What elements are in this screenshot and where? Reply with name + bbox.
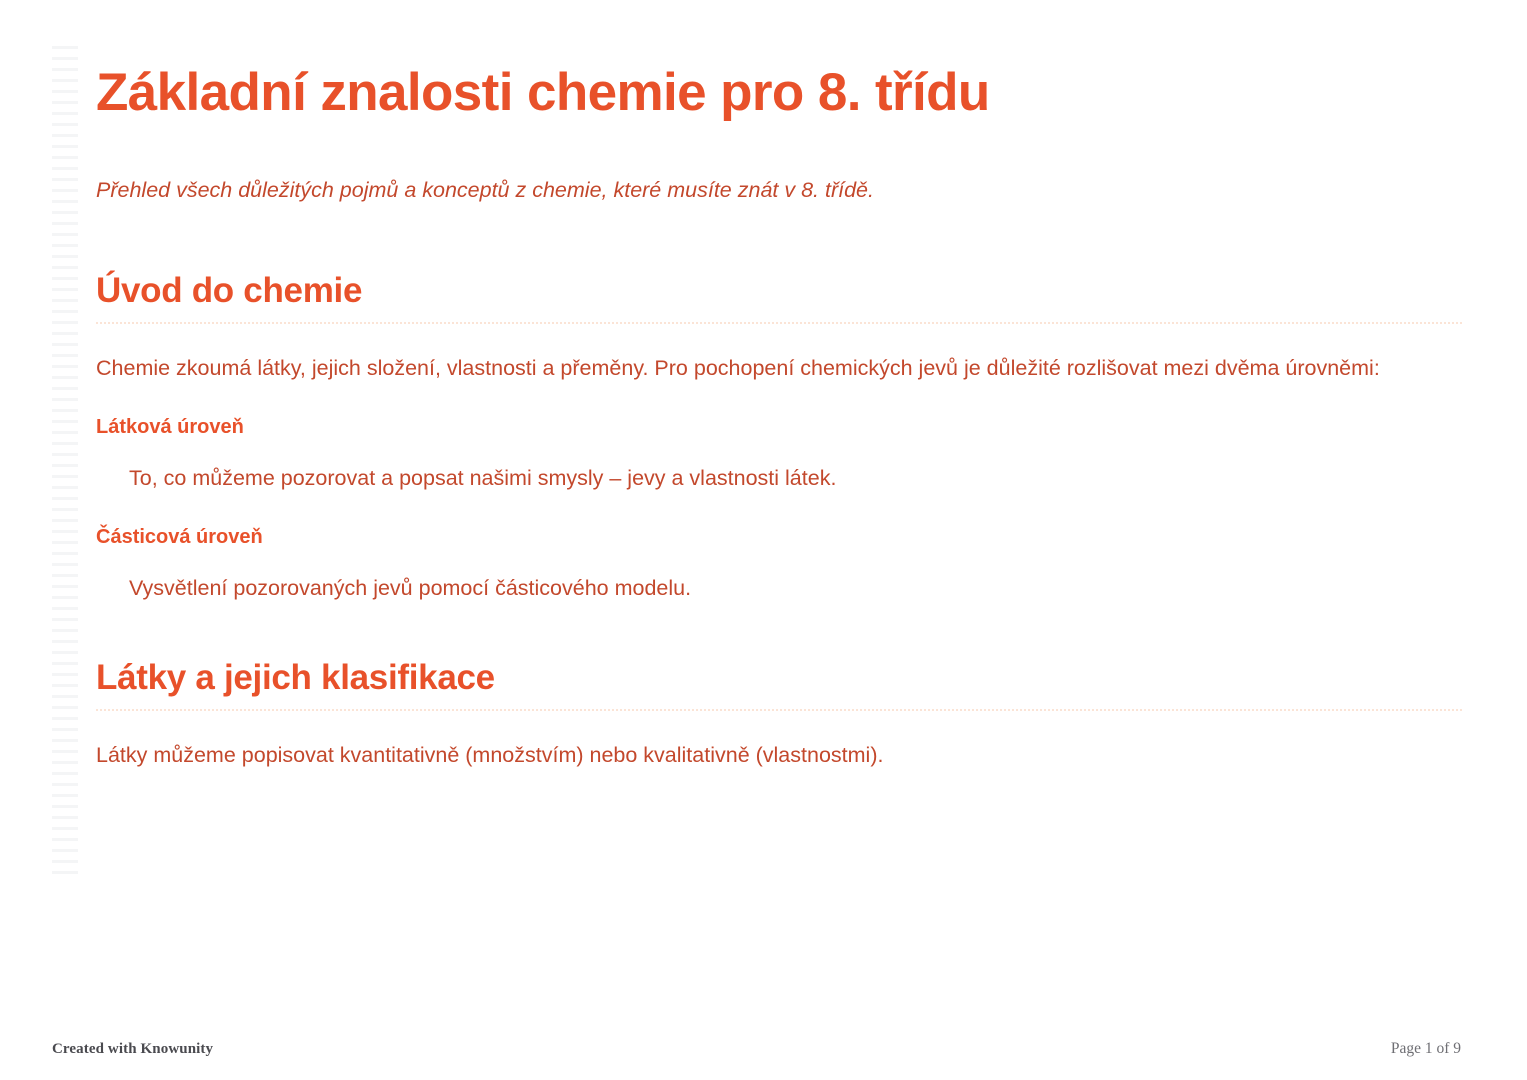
- term-heading: Látková úroveň: [96, 414, 1462, 440]
- spacer: [96, 324, 1462, 351]
- section-latky-a-jejich-klasifikace: Látky a jejich klasifikace Látky můžeme …: [96, 657, 1462, 773]
- term-block: Částicová úroveň Vysvětlení pozorovaných…: [96, 524, 1462, 605]
- page-number-indicator: Page 1 of 9: [1391, 1040, 1461, 1058]
- page-title: Základní znalosti chemie pro 8. třídu: [96, 0, 1462, 123]
- footer-credit: Created with Knowunity: [52, 1041, 213, 1058]
- section-heading: Úvod do chemie: [96, 270, 1462, 312]
- spacer: [96, 605, 1462, 657]
- document-page: Základní znalosti chemie pro 8. třídu Př…: [0, 0, 1527, 1080]
- spacer: [96, 206, 1462, 270]
- page-footer: Created with Knowunity Page 1 of 9: [0, 1016, 1527, 1080]
- section-uvod-do-chemie: Úvod do chemie Chemie zkoumá látky, jeji…: [96, 270, 1462, 606]
- term-definition: Vysvětlení pozorovaných jevů pomocí část…: [96, 571, 1462, 605]
- spacer: [96, 496, 1462, 524]
- section-heading: Látky a jejich klasifikace: [96, 657, 1462, 699]
- document-content: Základní znalosti chemie pro 8. třídu Př…: [96, 0, 1462, 1080]
- spacer: [96, 385, 1462, 414]
- section-paragraph: Látky můžeme popisovat kvantitativně (mn…: [96, 738, 1444, 773]
- term-definition: To, co můžeme pozorovat a popsat našimi …: [96, 461, 1462, 495]
- spacer: [96, 550, 1462, 571]
- page-subtitle: Přehled všech důležitých pojmů a koncept…: [96, 123, 1462, 205]
- spacer: [96, 440, 1462, 461]
- left-gutter-texture: [52, 46, 78, 882]
- term-heading: Částicová úroveň: [96, 524, 1462, 550]
- term-block: Látková úroveň To, co můžeme pozorovat a…: [96, 414, 1462, 495]
- section-paragraph: Chemie zkoumá látky, jejich složení, vla…: [96, 351, 1444, 386]
- spacer: [96, 711, 1462, 738]
